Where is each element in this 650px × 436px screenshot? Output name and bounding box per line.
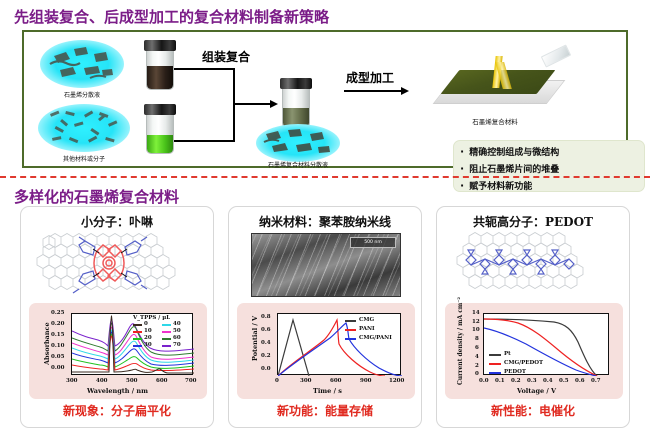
label-assembly-process: 组装复合 bbox=[202, 48, 250, 65]
legend-swatch-10 bbox=[133, 331, 142, 333]
panel-title: 纳米材料：聚苯胺纳米线 bbox=[229, 213, 421, 230]
label-forming-process: 成型加工 bbox=[346, 69, 394, 86]
panel-small-molecule: 小分子：卟啉 bbox=[20, 206, 214, 428]
label-other-material: 其他材料或分子 bbox=[38, 154, 130, 163]
legend-swatch-pedot bbox=[489, 372, 501, 374]
ytick-0.20: 0.20 bbox=[51, 321, 64, 327]
legend-label-cmgpedot: CMG/PEDOT bbox=[504, 360, 543, 366]
ytick-0.8: 0.8 bbox=[261, 314, 271, 320]
connector-bottom bbox=[174, 140, 234, 142]
porphyrin-graphene-icon bbox=[29, 231, 207, 299]
panel-footer-finding: 新功能：能量存储 bbox=[229, 402, 421, 419]
legend-swatch-20 bbox=[133, 338, 142, 340]
xtick-300: 300 bbox=[66, 378, 77, 384]
xtick-400: 400 bbox=[96, 378, 107, 384]
sem-micrograph-image: 500 nm bbox=[251, 233, 401, 297]
ytick-0.6: 0.6 bbox=[261, 327, 271, 333]
ytick-0.05: 0.05 bbox=[51, 354, 64, 360]
legend-label-cmg: CMG bbox=[359, 317, 374, 323]
yaxis-label-potential: Potential / V bbox=[251, 316, 259, 361]
legend-swatch-70 bbox=[162, 345, 171, 347]
ytick-14: 14 bbox=[472, 310, 480, 316]
legend-label-pedot: PEDOT bbox=[504, 369, 526, 375]
connector-arrow-shaft bbox=[233, 103, 271, 105]
jv-curves bbox=[484, 314, 610, 376]
ytick-0: 0 bbox=[475, 371, 479, 377]
connector-arrowhead bbox=[270, 100, 278, 108]
xtick-0: 0 bbox=[275, 378, 279, 384]
legend-label-60: 60 bbox=[173, 335, 181, 341]
legend-label-30: 30 bbox=[144, 342, 152, 348]
ytick-0.00: 0.00 bbox=[51, 365, 64, 371]
panel-title: 共轭高分子：PEDOT bbox=[437, 213, 629, 230]
xaxis-label-time: Time / s bbox=[313, 387, 342, 395]
xaxis-label-voltage: Voltage / V bbox=[517, 387, 556, 395]
graphene-flakes-icon bbox=[40, 40, 124, 88]
legend-swatch-cmg bbox=[345, 320, 356, 322]
poster-page: 先组装复合、后成型加工的复合材料制备新策略 石墨烯分散液 bbox=[0, 0, 650, 436]
vial-liquid-dark bbox=[147, 66, 173, 89]
legend-label-pani: PANI bbox=[359, 326, 375, 332]
yaxis-label-absorbance: Absorbance bbox=[43, 322, 51, 365]
legend-label-70: 70 bbox=[173, 342, 181, 348]
connector-vertical bbox=[233, 68, 235, 142]
chart-card-charge-discharge: 0.8 0.6 0.4 0.2 0.0 0 300 600 900 1200 T… bbox=[237, 303, 415, 399]
legend-label-0: 0 bbox=[144, 321, 148, 327]
xtick-300: 300 bbox=[300, 378, 311, 384]
ytick-12: 12 bbox=[472, 319, 480, 325]
legend-swatch-pani bbox=[345, 329, 356, 331]
xtick-600: 600 bbox=[156, 378, 167, 384]
plot-area-current-density bbox=[483, 313, 609, 375]
vial-cap bbox=[144, 104, 176, 115]
vial-body bbox=[282, 87, 310, 128]
chart-card-jv: 14 12 10 8 6 4 2 0 0.0 0.1 0.2 0.3 0.4 0… bbox=[445, 303, 623, 399]
legend-label-50: 50 bbox=[173, 328, 181, 334]
legend-swatch-pt bbox=[489, 354, 501, 356]
composite-film-illustration bbox=[420, 48, 570, 114]
pedot-graphene-icon bbox=[445, 231, 623, 299]
forming-arrowhead bbox=[401, 87, 409, 95]
label-composite-material: 石墨烯复合材料 bbox=[440, 116, 550, 126]
galvanostatic-curves bbox=[278, 314, 402, 376]
porphyrin-on-graphene-structure bbox=[29, 231, 207, 299]
ytick-0.4: 0.4 bbox=[261, 340, 271, 346]
label-graphene-dispersion: 石墨烯分散液 bbox=[40, 90, 124, 99]
panel-nanomaterial: 纳米材料：聚苯胺纳米线 500 nm 0.8 0.6 0.4 0. bbox=[228, 206, 422, 428]
vial-graphene bbox=[146, 40, 174, 90]
legend-label-pt: Pt bbox=[504, 351, 511, 357]
xtick-0.6: 0.6 bbox=[575, 378, 585, 384]
xaxis-label-wavelength: Wavelength / nm bbox=[87, 387, 148, 395]
ytick-0.2: 0.2 bbox=[261, 353, 271, 359]
legend-swatch-30 bbox=[133, 345, 142, 347]
sem-micrograph-container: 500 nm bbox=[237, 231, 415, 299]
section-divider bbox=[0, 176, 650, 178]
chart-card-absorbance: 0.25 0.20 0.15 0.10 0.05 0.00 300 400 50… bbox=[29, 303, 207, 399]
sem-scale-bar: 500 nm bbox=[350, 237, 396, 248]
legend-swatch-40 bbox=[162, 324, 171, 326]
ytick-0.0: 0.0 bbox=[261, 366, 271, 372]
legend-title-tpps: V_TPPS / µL bbox=[133, 315, 170, 321]
ytick-0.15: 0.15 bbox=[51, 332, 64, 338]
xtick-600: 600 bbox=[330, 378, 341, 384]
feature-item-3: 赋予材料新功能 bbox=[460, 178, 638, 195]
page-title: 先组装复合、后成型加工的复合材料制备新策略 bbox=[14, 6, 329, 27]
legend-swatch-cmgpani bbox=[345, 338, 356, 340]
yaxis-label-current-density: Current density / mA cm⁻² bbox=[457, 297, 464, 385]
pedot-chain bbox=[466, 250, 574, 274]
feature-item-1: 精确控制组成与微结构 bbox=[460, 144, 638, 161]
panel-footer-finding: 新性能：电催化 bbox=[437, 402, 629, 419]
ytick-2: 2 bbox=[475, 363, 479, 369]
xtick-0.1: 0.1 bbox=[495, 378, 505, 384]
xtick-0.5: 0.5 bbox=[559, 378, 569, 384]
ytick-6: 6 bbox=[475, 345, 479, 351]
strategy-diagram-box: 石墨烯分散液 bbox=[22, 30, 628, 168]
legend-label-40: 40 bbox=[173, 321, 181, 327]
other-material-blob bbox=[38, 104, 130, 152]
glass-slide-chip bbox=[541, 44, 571, 67]
legend-swatch-cmgpedot bbox=[489, 363, 501, 365]
legend-label-20: 20 bbox=[144, 335, 152, 341]
xtick-0.0: 0.0 bbox=[479, 378, 489, 384]
composite-flakes-icon bbox=[256, 124, 340, 162]
xtick-500: 500 bbox=[126, 378, 137, 384]
vial-liquid-green bbox=[147, 135, 173, 153]
vial-body bbox=[146, 49, 174, 90]
xtick-700: 700 bbox=[185, 378, 196, 384]
xtick-0.2: 0.2 bbox=[511, 378, 521, 384]
legend-label-cmgpani: CMG/PANI bbox=[359, 335, 392, 341]
ytick-8: 8 bbox=[475, 336, 479, 342]
vial-composite bbox=[282, 78, 310, 128]
vial-other-material bbox=[146, 104, 174, 154]
panel-footer-finding: 新现象：分子扁平化 bbox=[21, 402, 213, 419]
xtick-0.7: 0.7 bbox=[591, 378, 601, 384]
label-composite-dispersion: 石墨烯复合材料分散液 bbox=[252, 160, 344, 169]
xtick-0.3: 0.3 bbox=[527, 378, 537, 384]
panel-title: 小分子：卟啉 bbox=[21, 213, 213, 230]
pedot-on-graphene-structure bbox=[445, 231, 623, 299]
graphene-dispersion-blob bbox=[40, 40, 124, 88]
composite-dispersion-blob bbox=[256, 124, 340, 162]
ytick-4: 4 bbox=[475, 354, 479, 360]
legend-label-10: 10 bbox=[144, 328, 152, 334]
section-title-materials: 多样化的石墨烯复合材料 bbox=[14, 186, 179, 207]
legend-swatch-50 bbox=[162, 331, 171, 333]
vial-cap bbox=[144, 40, 176, 51]
legend-swatch-60 bbox=[162, 338, 171, 340]
small-molecule-flakes-icon bbox=[38, 104, 130, 152]
xtick-0.4: 0.4 bbox=[543, 378, 553, 384]
ytick-0.10: 0.10 bbox=[51, 343, 64, 349]
legend-swatch-0 bbox=[133, 324, 142, 326]
vial-body bbox=[146, 113, 174, 154]
key-features-callout: 精确控制组成与微结构 阻止石墨烯片间的堆叠 赋予材料新功能 bbox=[453, 140, 645, 192]
plot-area-potential bbox=[277, 313, 401, 375]
vial-cap bbox=[280, 78, 312, 89]
panel-conjugated-polymer: 共轭高分子：PEDOT bbox=[436, 206, 630, 428]
xtick-1200: 1200 bbox=[389, 378, 404, 384]
ytick-10: 10 bbox=[472, 327, 480, 333]
ytick-0.25: 0.25 bbox=[51, 310, 64, 316]
connector-top bbox=[174, 68, 234, 70]
forming-arrow-shaft bbox=[344, 90, 402, 92]
xtick-900: 900 bbox=[360, 378, 371, 384]
key-features-list: 精确控制组成与微结构 阻止石墨烯片间的堆叠 赋予材料新功能 bbox=[460, 144, 638, 195]
